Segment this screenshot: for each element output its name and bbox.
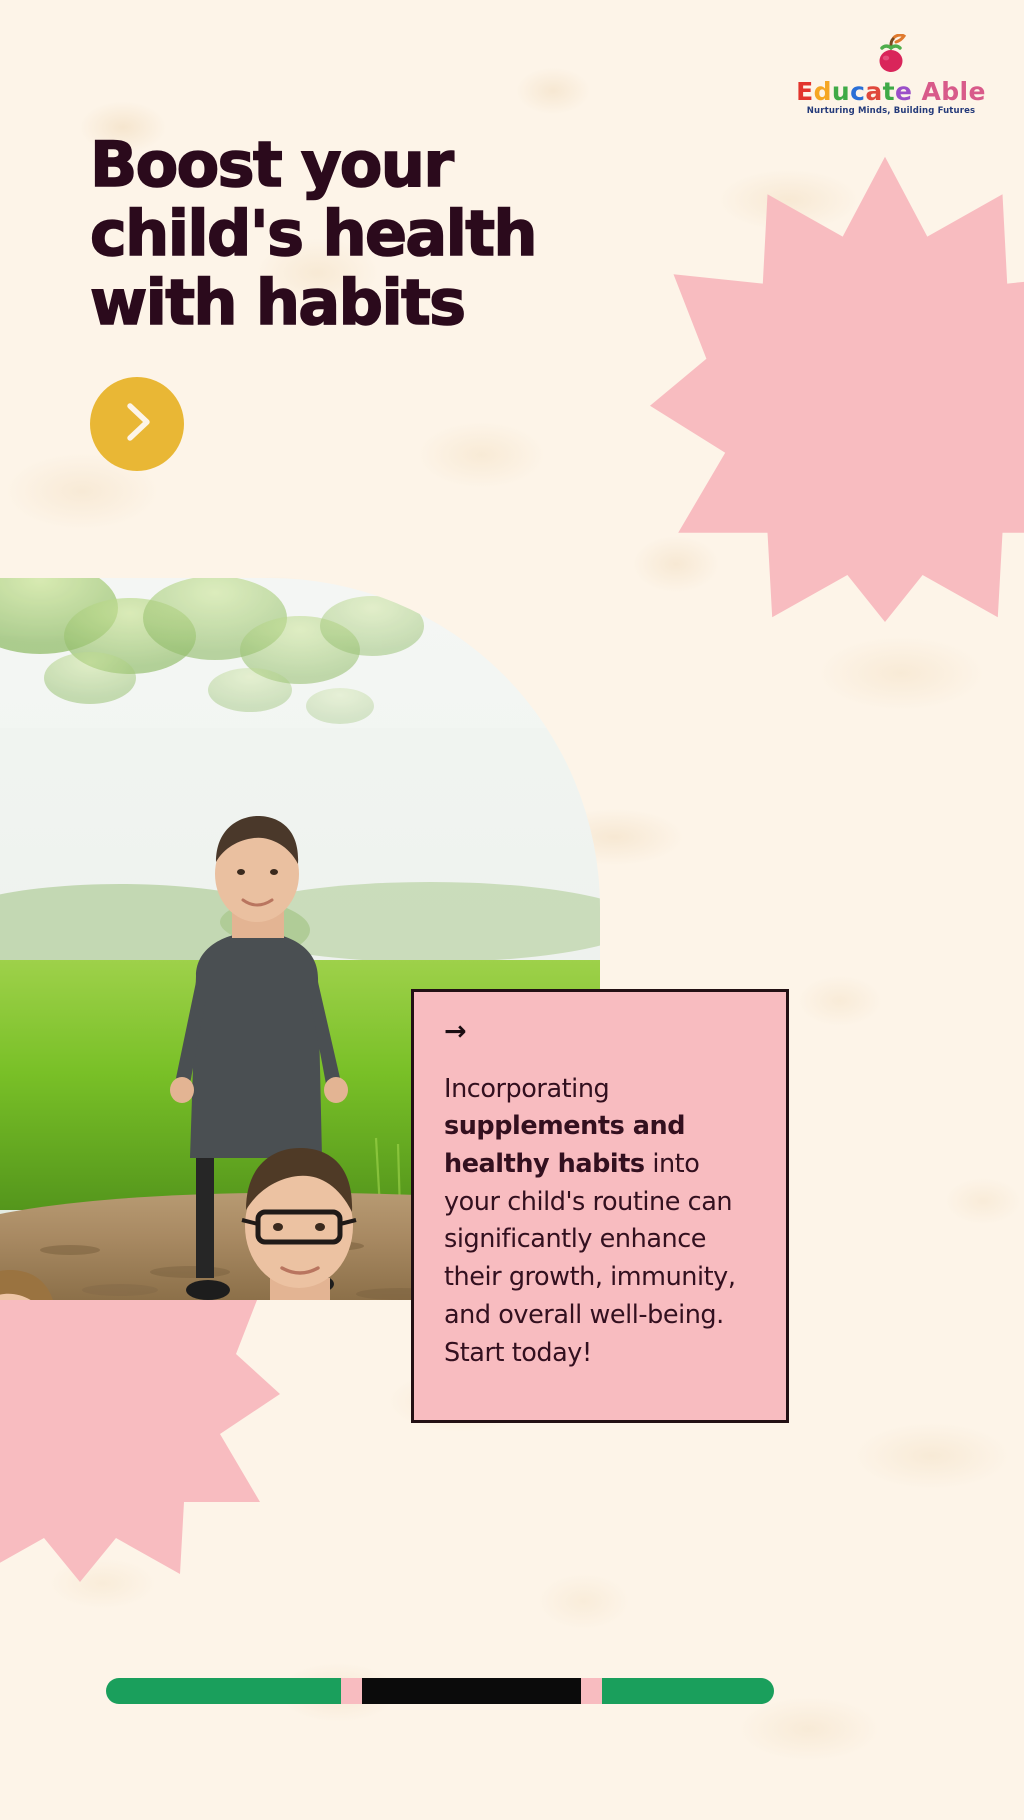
brand-letter-0: E (796, 79, 813, 104)
headline-line-2: child's health (90, 199, 710, 268)
brand-letter-8: A (921, 79, 941, 104)
segment-green-left (106, 1678, 341, 1704)
brand-name: Educate Able (784, 79, 998, 104)
brand-letter-3: c (850, 79, 865, 104)
chevron-right-icon (117, 399, 157, 450)
segment-pink-divider-2 (581, 1678, 601, 1704)
apple-icon (784, 34, 998, 78)
brand-letter-1: d (814, 79, 832, 104)
brand-letter-2: u (832, 79, 850, 104)
quote-run-0: Incorporating (444, 1074, 609, 1104)
quote-body-text: Incorporating supplements and healthy ha… (444, 1071, 762, 1373)
progress-indicator-bar[interactable] (106, 1678, 774, 1704)
brand-logo[interactable]: Educate Able Nurturing Minds, Building F… (784, 34, 998, 116)
brand-tagline: Nurturing Minds, Building Futures (784, 107, 998, 116)
brand-letter-7 (912, 79, 921, 104)
page-title: Boost your child's health with habits (90, 130, 710, 337)
headline-line-1: Boost your (90, 130, 710, 199)
segment-pink-divider-1 (341, 1678, 361, 1704)
segment-black-center (362, 1678, 582, 1704)
poster-canvas: Educate Able Nurturing Minds, Building F… (0, 0, 1024, 1820)
headline-line-3: with habits (90, 268, 710, 337)
brand-letter-5: t (883, 79, 895, 104)
brand-letter-4: a (865, 79, 882, 104)
quote-run-2: into your child's routine can significan… (444, 1149, 735, 1368)
brand-letter-11: e (969, 79, 986, 104)
quote-callout-card: → Incorporating supplements and healthy … (411, 989, 789, 1423)
brand-letter-10: l (960, 79, 969, 104)
segment-green-right (602, 1678, 774, 1704)
arrow-right-icon: → (444, 1018, 762, 1045)
next-arrow-button[interactable] (90, 377, 184, 471)
brand-letter-6: e (895, 79, 912, 104)
brand-letter-9: b (941, 79, 959, 104)
